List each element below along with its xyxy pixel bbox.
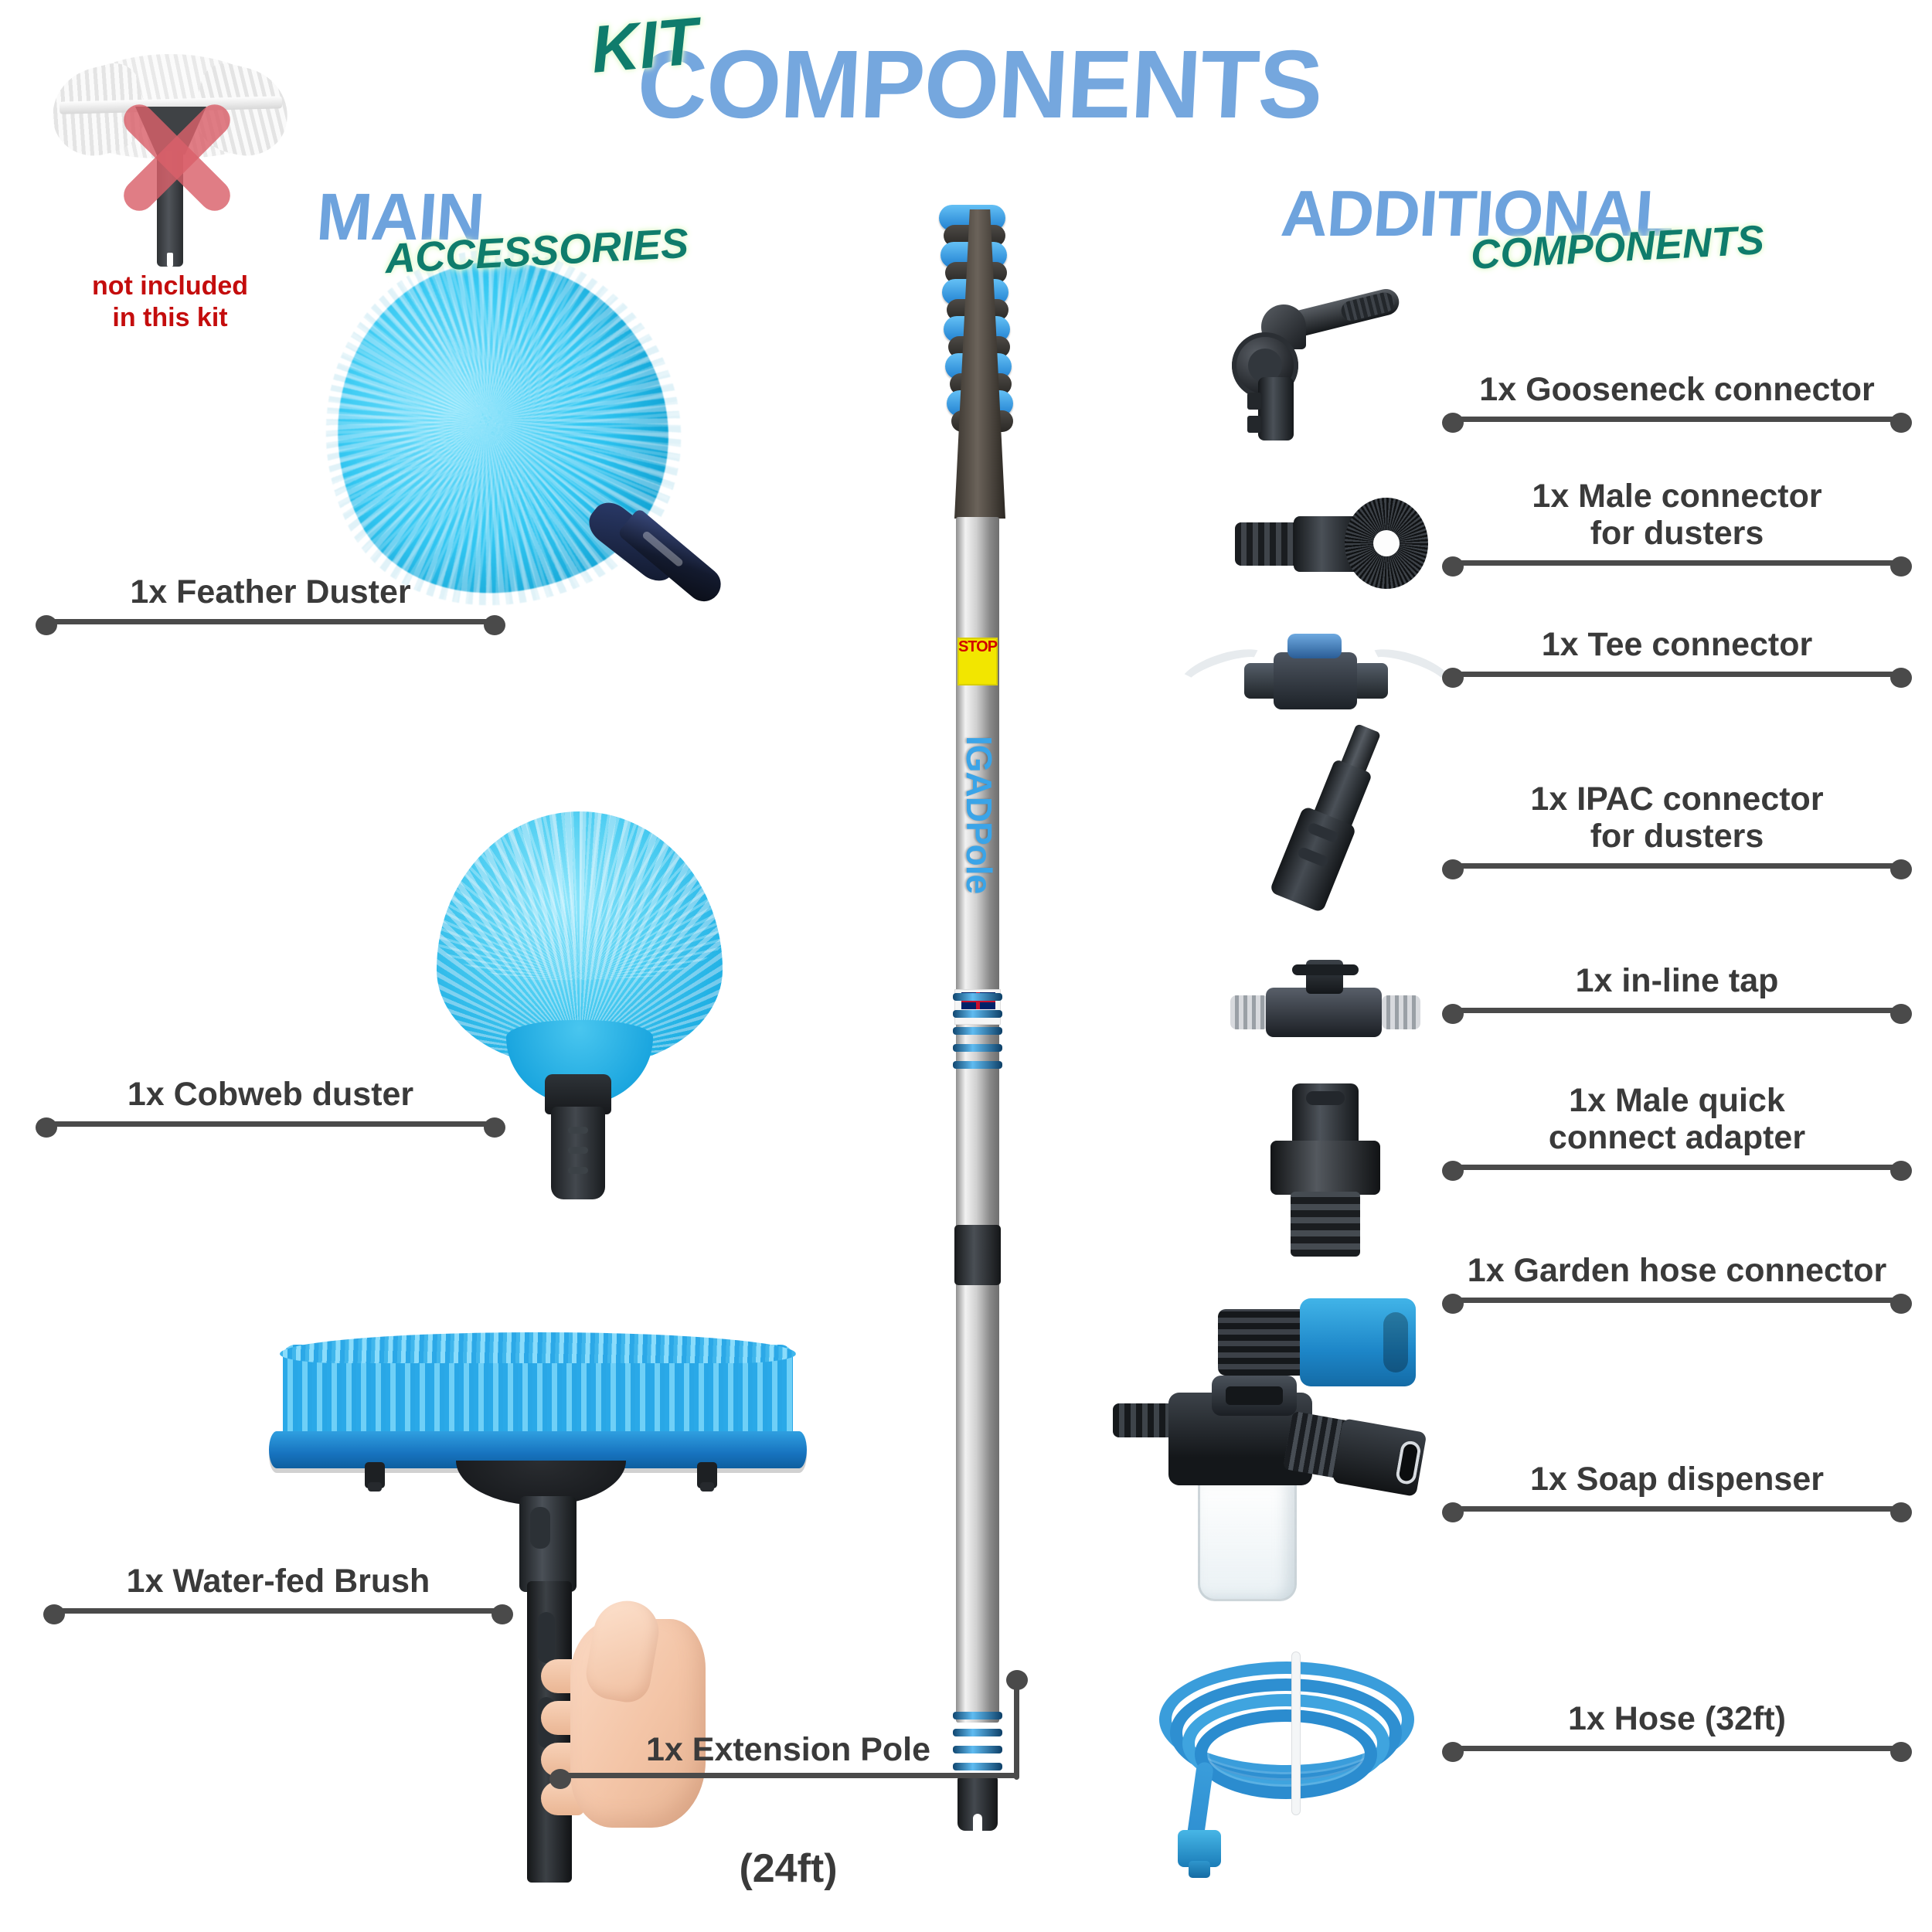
pole-end-tip: [957, 1777, 998, 1831]
not-included-line-2: in this kit: [43, 302, 298, 334]
cobweb-duster-grip: [551, 1107, 605, 1199]
infographic-canvas: KIT COMPONENTS not included in this kit …: [0, 0, 1932, 1932]
window-squeegee-icon: [43, 23, 298, 263]
page-title: KIT COMPONENTS: [564, 8, 1352, 124]
callout-label-quick-connect-line-2: connect adapter: [1445, 1119, 1909, 1156]
pole-stop-text: STOP: [958, 639, 997, 655]
callout-tee-connector: 1x Tee connector: [1445, 626, 1909, 679]
product-cobweb-duster: [429, 811, 753, 1229]
callout-in-line-tap: 1x in-line tap: [1445, 962, 1909, 1015]
product-soap-dispenser: [1105, 1376, 1430, 1631]
callout-label-cobweb-duster: 1x Cobweb duster: [39, 1076, 502, 1117]
callout-label-quick-connect-line-1: 1x Male quick: [1445, 1082, 1909, 1119]
not-included-line-1: not included: [43, 270, 298, 302]
callout-label-extension-pole: 1x Extension Pole: [553, 1731, 1024, 1769]
callout-cobweb-duster: 1x Cobweb duster: [39, 1076, 502, 1128]
callout-label-male-connector-line-2: for dusters: [1445, 515, 1909, 552]
product-male-quick-connect-adapter: [1236, 1082, 1414, 1260]
pole-tube: [956, 517, 999, 1723]
callout-water-fed-brush: 1x Water-fed Brush: [46, 1563, 510, 1615]
callout-hose: 1x Hose (32ft): [1445, 1700, 1909, 1753]
callout-label-water-fed-brush: 1x Water-fed Brush: [46, 1563, 510, 1604]
holding-hand: [547, 1596, 717, 1851]
product-ipac-connector: [1229, 726, 1414, 920]
callout-label-soap-dispenser: 1x Soap dispenser: [1445, 1461, 1909, 1502]
callout-extension-pole-length: (24ft): [553, 1845, 1024, 1892]
callout-label-hose: 1x Hose (32ft): [1445, 1700, 1909, 1742]
section-heading-additional-components: ADDITIONAL COMPONENTS: [1274, 176, 1815, 300]
callout-extension-pole: 1x Extension Pole: [553, 1731, 1024, 1780]
product-gooseneck-connector: [1213, 294, 1422, 448]
callout-label-feather-duster: 1x Feather Duster: [39, 573, 502, 615]
callout-label-ipac-connector-line-1: 1x IPAC connector: [1445, 781, 1909, 818]
callout-gooseneck-connector: 1x Gooseneck connector: [1445, 371, 1909, 423]
brush-collar: [519, 1496, 577, 1592]
callout-feather-duster: 1x Feather Duster: [39, 573, 502, 626]
brush-water-jet-right: [697, 1462, 717, 1488]
brush-bristles: [283, 1345, 793, 1437]
title-components-word: COMPONENTS: [634, 29, 1325, 140]
callout-ipac-connector: 1x IPAC connector for dusters: [1445, 781, 1909, 870]
product-in-line-tap: [1229, 951, 1422, 1074]
callout-male-connector: 1x Male connector for dusters: [1445, 478, 1909, 567]
callout-label-gooseneck-connector: 1x Gooseneck connector: [1445, 371, 1909, 413]
brush-water-jet-left: [365, 1462, 385, 1488]
callout-label-in-line-tap: 1x in-line tap: [1445, 962, 1909, 1004]
callout-garden-hose-connector: 1x Garden hose connector: [1445, 1252, 1909, 1304]
not-included-badge: not included in this kit: [43, 23, 298, 332]
callout-male-quick-connect-adapter: 1x Male quick connect adapter: [1445, 1082, 1909, 1172]
callout-label-tee-connector: 1x Tee connector: [1445, 626, 1909, 668]
product-extension-pole: STOP IGADPole: [931, 205, 1032, 1804]
callout-label-garden-hose-connector: 1x Garden hose connector: [1445, 1252, 1909, 1294]
not-included-text: not included in this kit: [43, 270, 298, 334]
callout-label-ipac-connector-line-2: for dusters: [1445, 818, 1909, 855]
product-male-connector: [1235, 487, 1428, 603]
pole-stop-warning-label: STOP: [957, 638, 998, 685]
callout-label-male-connector-line-1: 1x Male connector: [1445, 478, 1909, 515]
product-feather-duster: [309, 255, 788, 703]
product-tee-connector: [1189, 618, 1444, 742]
title-kit-word: KIT: [588, 3, 702, 89]
callout-soap-dispenser: 1x Soap dispenser: [1445, 1461, 1909, 1513]
product-hose-coil: [1151, 1646, 1453, 1870]
cross-out-icon: [111, 91, 243, 224]
pole-brand-label: IGADPole: [958, 736, 1000, 890]
pole-clamp-stack: [934, 205, 1027, 529]
